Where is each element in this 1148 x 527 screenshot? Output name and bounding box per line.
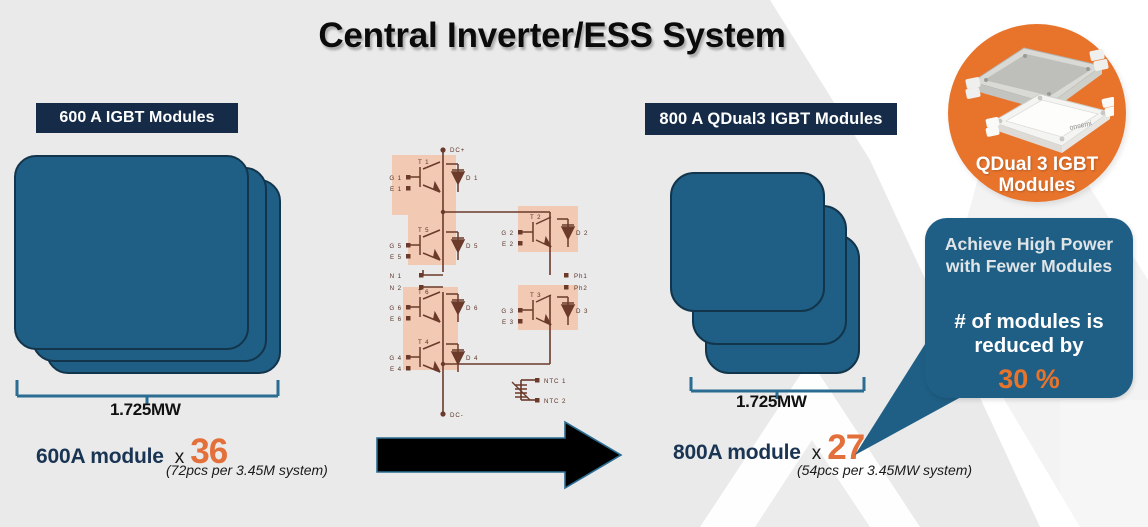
circuit-label-d3: D 3 bbox=[576, 308, 588, 315]
circuit-label-ph2: Ph2 bbox=[574, 285, 588, 292]
circuit-label-e6: E 6 bbox=[390, 316, 402, 323]
transition-arrow-icon bbox=[375, 420, 625, 490]
circuit-label-ph1: Ph1 bbox=[574, 273, 588, 280]
qdual3-module-photo: onsemi bbox=[962, 36, 1114, 156]
circuit-label-t3: T 3 bbox=[530, 292, 542, 299]
circuit-label-n2: N 2 bbox=[390, 285, 402, 292]
circuit-label-e3: E 3 bbox=[502, 319, 514, 326]
page-title-text: Central Inverter/ESS System bbox=[318, 16, 785, 56]
circuit-label-e5: E 5 bbox=[390, 254, 402, 261]
circuit-label-g1: G 1 bbox=[389, 175, 402, 182]
label-chip-800a: 800 A QDual3 IGBT Modules bbox=[645, 103, 897, 135]
circuit-label-t1: T 1 bbox=[418, 159, 430, 166]
circuit-label-g3: G 3 bbox=[501, 308, 514, 315]
label-chip-600a: 600 A IGBT Modules bbox=[36, 103, 238, 133]
circuit-label-g2: G 2 bbox=[501, 230, 514, 237]
circuit-label-d4: D 4 bbox=[466, 355, 478, 362]
circuit-label-t6: T 6 bbox=[418, 289, 430, 296]
circuit-label-dc-minus: DC- bbox=[450, 412, 464, 419]
circuit-label-e4: E 4 bbox=[390, 366, 402, 373]
bracket-label-800a: 1.725MW bbox=[736, 392, 807, 412]
qdual3-badge-label: QDual 3 IGBT Modules bbox=[948, 154, 1126, 197]
circuit-label-e1: E 1 bbox=[390, 186, 402, 193]
igbt-circuit-diagram: DC+ DC- N 1 N 2 Ph1 Ph2 NTC 1 NTC 2 T 1 … bbox=[378, 142, 610, 422]
label-chip-800a-text: 800 A QDual3 IGBT Modules bbox=[659, 110, 882, 129]
module-card-800a-front bbox=[670, 172, 825, 312]
circuit-label-d1: D 1 bbox=[466, 175, 478, 182]
module-card-600a-front bbox=[14, 155, 249, 350]
bracket-label-600a: 1.725MW bbox=[110, 400, 181, 420]
circuit-label-g5: G 5 bbox=[389, 243, 402, 250]
label-chip-600a-text: 600 A IGBT Modules bbox=[59, 109, 214, 127]
circuit-label-n1: N 1 bbox=[390, 273, 402, 280]
circuit-label-ntc1: NTC 1 bbox=[544, 378, 566, 385]
circuit-label-d2: D 2 bbox=[576, 230, 588, 237]
circuit-label-dc-plus: DC+ bbox=[450, 147, 465, 154]
circuit-label-t2: T 2 bbox=[530, 214, 542, 221]
circuit-label-ntc2: NTC 2 bbox=[544, 398, 566, 405]
circuit-label-t5: T 5 bbox=[418, 227, 430, 234]
module-white-top: onsemi bbox=[985, 94, 1114, 153]
module-name-800a: 800A module bbox=[673, 441, 801, 465]
infographic-canvas: Central Inverter/ESS System 600 A IGBT M… bbox=[0, 0, 1148, 527]
callout-percent: 30 % bbox=[925, 364, 1133, 395]
module-name-600a: 600A module bbox=[36, 445, 164, 469]
circuit-label-d5: D 5 bbox=[466, 243, 478, 250]
circuit-label-e2: E 2 bbox=[502, 241, 514, 248]
circuit-label-d6: D 6 bbox=[466, 305, 478, 312]
callout-body-text: # of modules is reduced by bbox=[925, 310, 1133, 358]
circuit-label-t4: T 4 bbox=[418, 339, 430, 346]
circuit-label-g6: G 6 bbox=[389, 305, 402, 312]
circuit-label-g4: G 4 bbox=[389, 355, 402, 362]
note-600a: (72pcs per 3.45M system) bbox=[166, 462, 328, 478]
callout-headline: Achieve High Power with Fewer Modules bbox=[925, 233, 1133, 278]
